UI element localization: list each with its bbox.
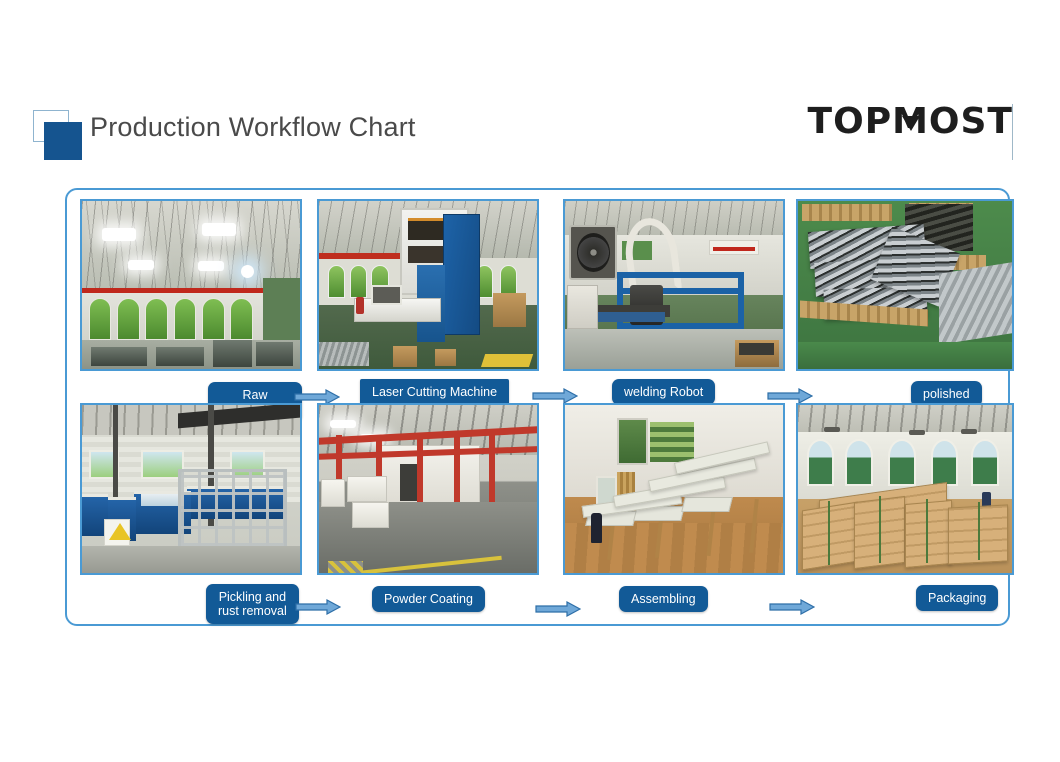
photo-welding-robot-cell [563,199,785,371]
brand-triangle-icon [902,116,920,131]
scene-art [319,405,537,573]
scene-art [798,405,1012,573]
photo-laser-cutting-machine [317,199,539,371]
step-label-laser-cutting-machine: Laser Cutting Machine [360,379,509,405]
workflow-row-2: Pickling and rust removal [67,403,1012,607]
photo-assembly-workshop [563,403,785,575]
photo-pickling-tanks [80,403,302,575]
workflow-step-packaging: Packaging [796,403,1014,607]
workflow-step-polished: polished [796,199,1014,403]
workflow-step-laser-cutting-machine: Laser Cutting Machine [317,199,539,403]
photo-factory-hall-interior [80,199,302,371]
logo-solid-square [44,122,82,160]
scene-art [82,201,300,369]
scene-art [82,405,300,573]
brand-logo: TOPMOST [808,100,1013,162]
workflow-step-pickling-and-rust-removal: Pickling and rust removal [80,403,302,607]
scene-art [565,405,783,573]
photo-powder-coating-line [317,403,539,575]
square-logo-icon [33,110,87,160]
step-label-packaging: Packaging [916,585,998,611]
step-label-powder-coating: Powder Coating [372,586,485,612]
page-header: Production Workflow Chart TOPMOST [0,0,1060,180]
scene-art [319,201,537,369]
workflow-step-powder-coating: Powder Coating [317,403,539,607]
step-label-assembling: Assembling [619,586,708,612]
scene-art [798,201,1012,369]
photo-packaging-warehouse [796,403,1014,575]
step-label-welding-robot: welding Robot [612,379,715,405]
workflow-step-welding-robot: welding Robot [563,199,785,403]
workflow-panel: Raw Materials [65,188,1010,626]
photo-polished-metal-parts [796,199,1014,371]
workflow-step-raw-materials: Raw Materials [80,199,302,403]
workflow-row-1: Raw Materials [67,199,1012,403]
scene-art [565,201,783,369]
step-label-pickling-and-rust-removal: Pickling and rust removal [206,584,299,624]
page-title: Production Workflow Chart [90,112,416,143]
brand-divider [1012,104,1013,160]
workflow-step-assembling: Assembling [563,403,785,607]
